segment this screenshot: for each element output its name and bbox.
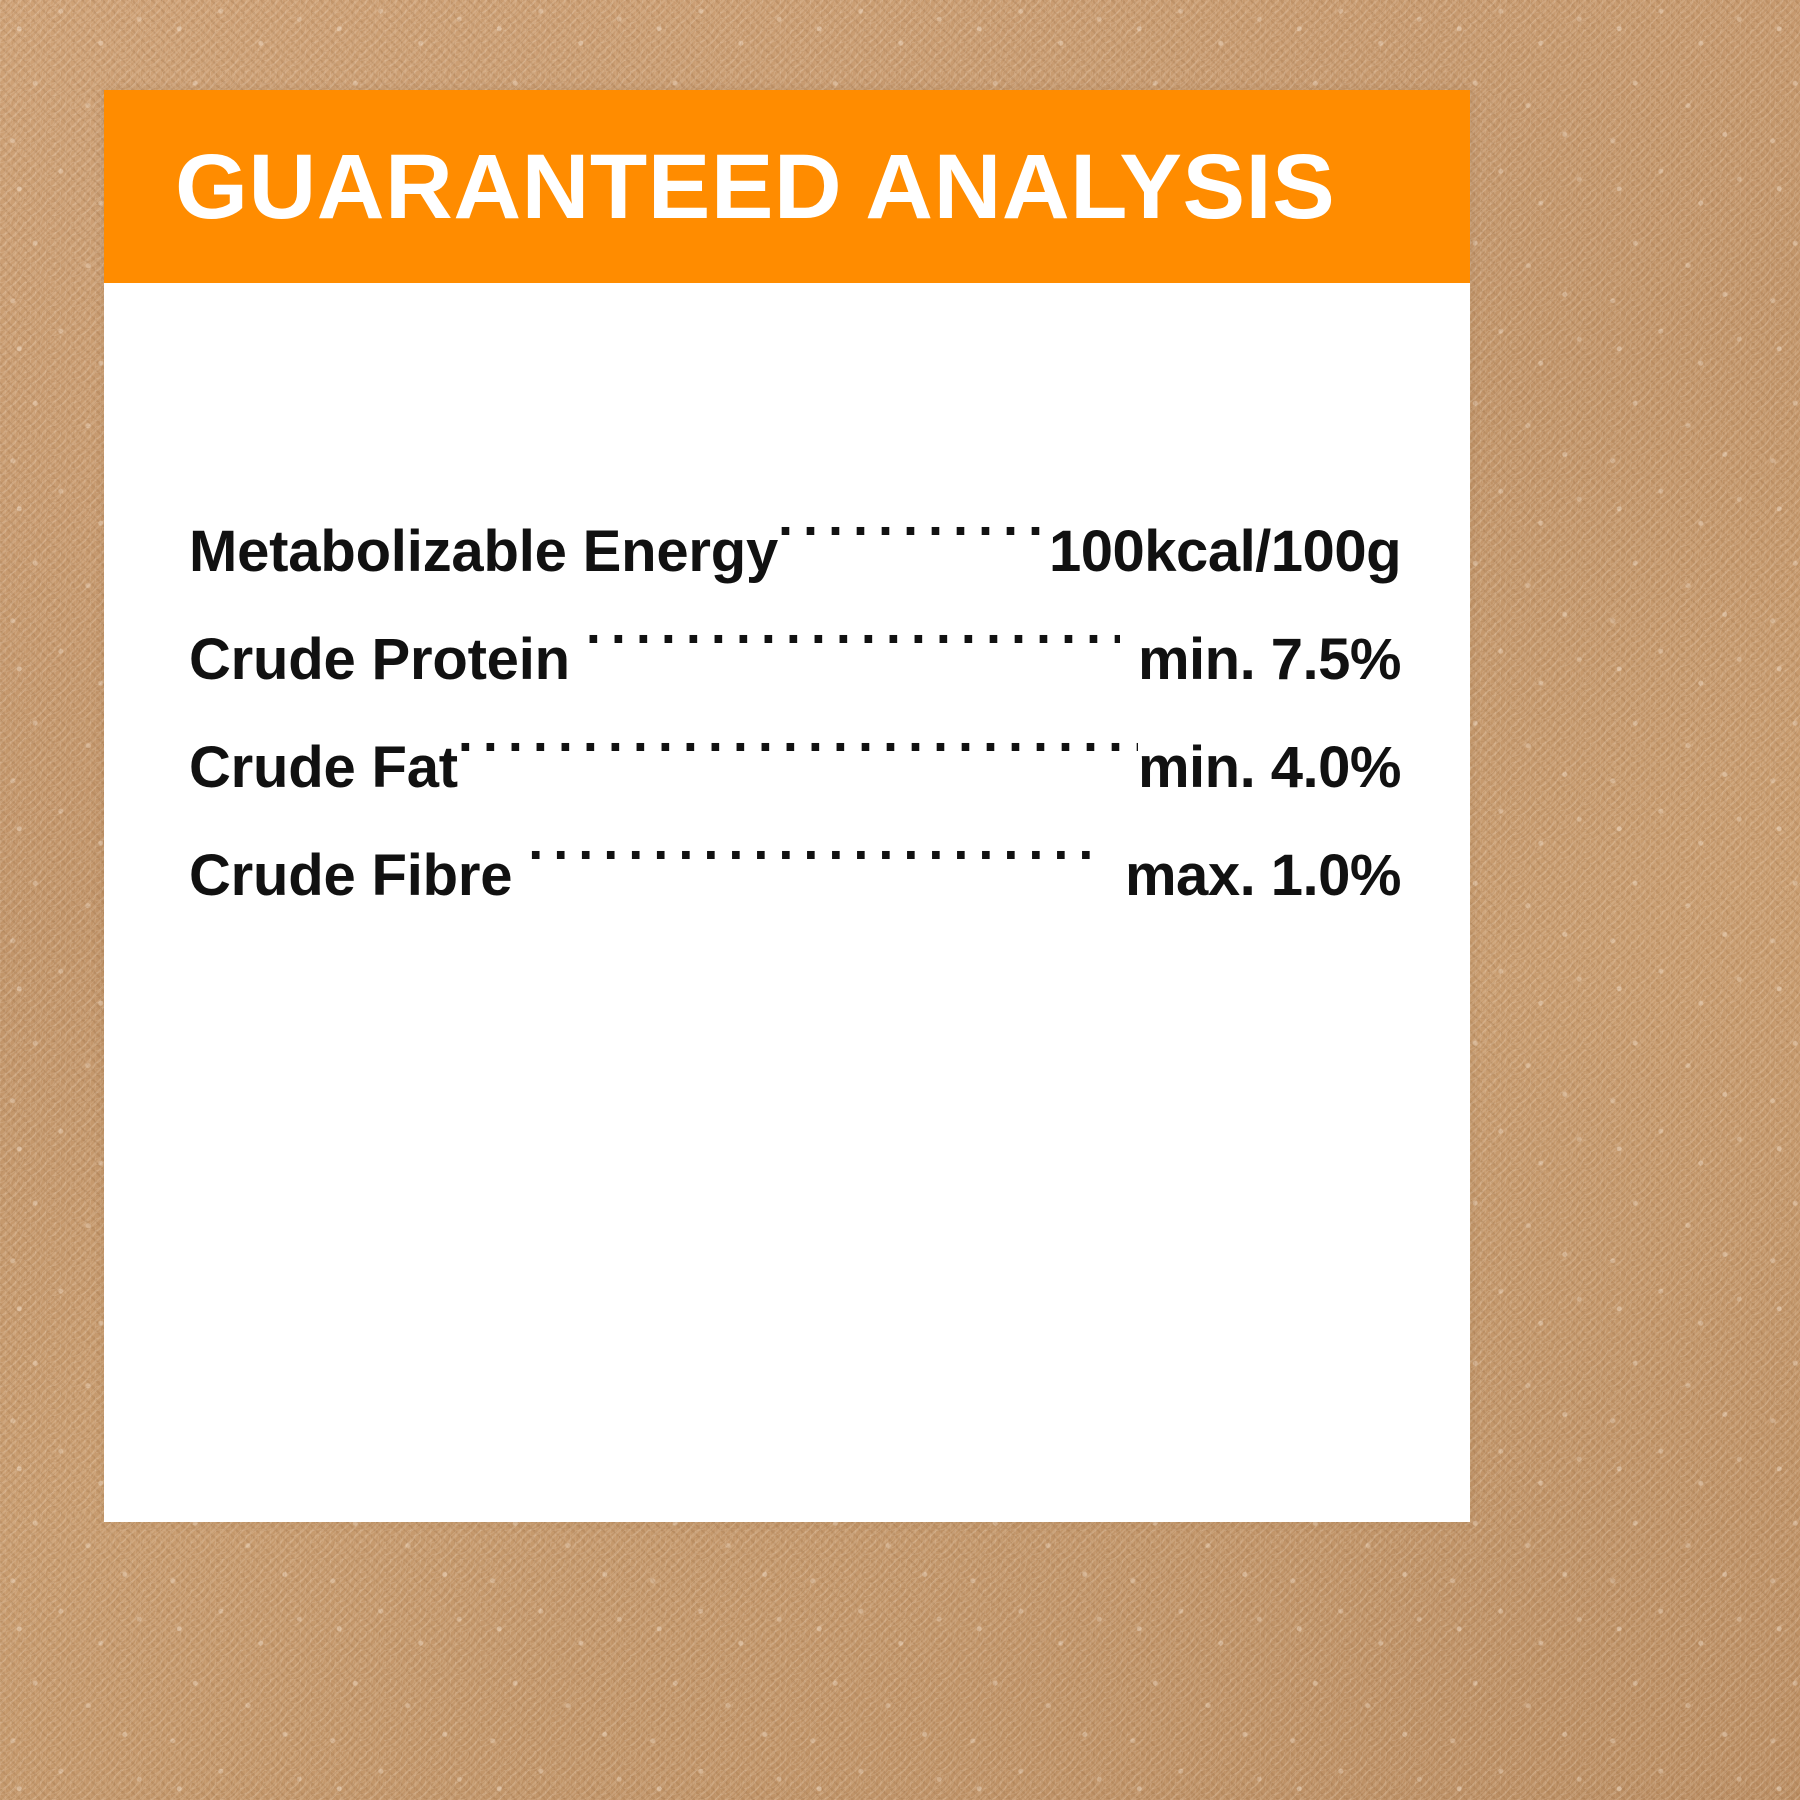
header-band: GUARANTEED ANALYSIS	[104, 90, 1470, 283]
analysis-row: Metabolizable Energy 100kcal/100g	[189, 463, 1401, 571]
page-title: GUARANTEED ANALYSIS	[175, 141, 1335, 233]
analysis-row-value: min. 4.0%	[1138, 714, 1401, 822]
analysis-list: Metabolizable Energy 100kcal/100g Crude …	[189, 463, 1401, 895]
dot-leader	[778, 463, 1049, 571]
dot-leader	[586, 571, 1120, 679]
guaranteed-analysis-panel: GUARANTEED ANALYSIS Metabolizable Energy…	[104, 90, 1470, 1522]
dot-leader	[528, 787, 1107, 895]
analysis-row-label: Crude Fat	[189, 714, 458, 822]
analysis-row-label: Crude Fibre	[189, 822, 528, 930]
analysis-row-value: min. 7.5%	[1120, 606, 1401, 714]
analysis-row-value: max. 1.0%	[1107, 822, 1401, 930]
dot-leader	[458, 679, 1138, 787]
